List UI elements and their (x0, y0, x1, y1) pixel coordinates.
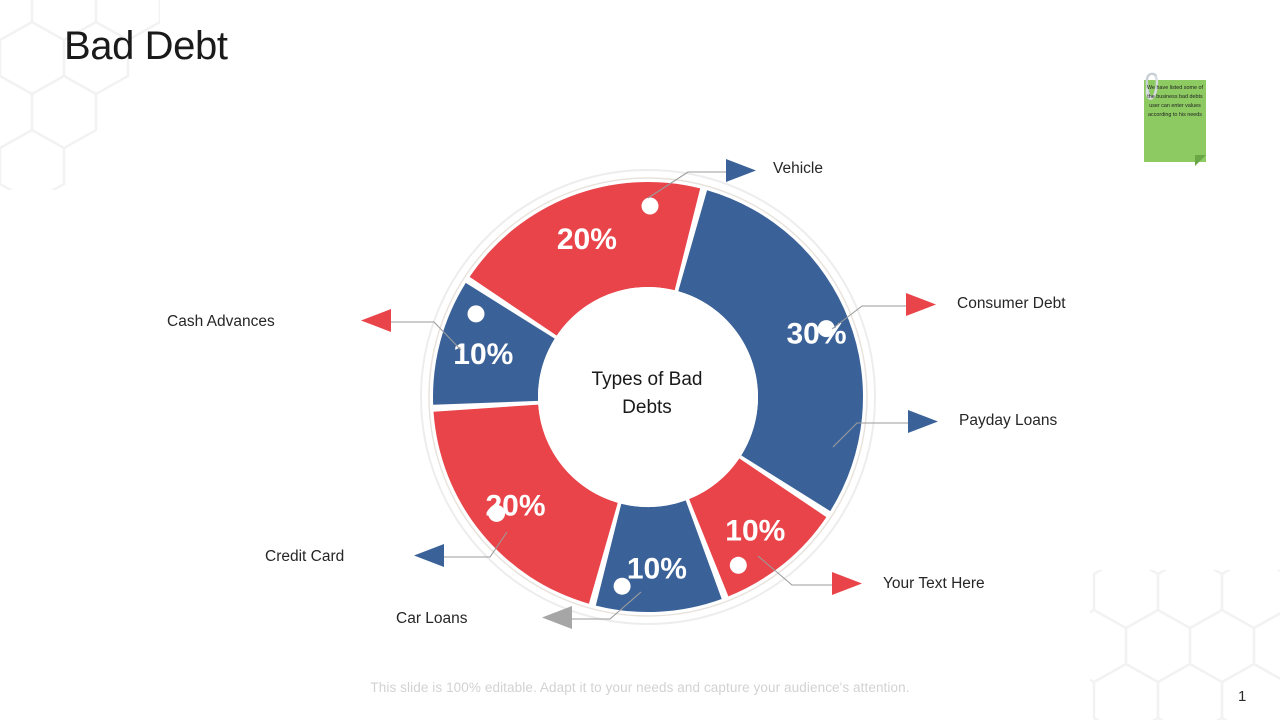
anchor-dot (468, 305, 485, 322)
slice-value-vehicle: 30% (786, 317, 846, 350)
slice-value-payday-loans: 10% (627, 552, 687, 585)
callout-label-consumer-debt[interactable]: Consumer Debt (957, 295, 1066, 313)
page-number: 1 (1238, 688, 1246, 705)
arrow-cash-icon (361, 309, 391, 332)
page-title: Bad Debt (64, 22, 228, 70)
sticky-note-text: We have listed some of the business bad … (1147, 84, 1203, 120)
callout-label-car-loans[interactable]: Car Loans (396, 610, 468, 628)
hexagon-pattern-bottom-right (1090, 570, 1280, 720)
anchor-dot (730, 557, 747, 574)
footer-note: This slide is 100% editable. Adapt it to… (0, 680, 1280, 695)
callout-label-vehicle[interactable]: Vehicle (773, 160, 823, 178)
slice-value-car-loans: 10% (453, 338, 513, 371)
donut-center-label: Types of Bad Debts (553, 366, 741, 422)
callout-label-your-text-here[interactable]: Your Text Here (883, 575, 985, 593)
sticky-note-fold (1195, 155, 1206, 166)
anchor-dot (614, 578, 631, 595)
callout-label-credit-card[interactable]: Credit Card (265, 548, 344, 566)
slice-value-cash-advances: 20% (557, 223, 617, 256)
anchor-dot (642, 198, 659, 215)
sticky-note: We have listed some of the business bad … (1128, 72, 1206, 166)
callout-label-payday-loans[interactable]: Payday Loans (959, 412, 1057, 430)
slice-value-consumer-debt: 10% (725, 515, 785, 548)
slide-canvas: Bad Debt We have listed some of the busi… (0, 0, 1280, 720)
arrow-consumer-icon (906, 293, 936, 316)
center-label-line1: Types of Bad (553, 366, 741, 394)
callout-label-cash-advances[interactable]: Cash Advances (167, 313, 275, 331)
anchor-dot (488, 505, 505, 522)
arrow-payday-icon (908, 410, 938, 433)
anchor-dot (818, 320, 835, 337)
center-label-line2: Debts (553, 394, 741, 422)
